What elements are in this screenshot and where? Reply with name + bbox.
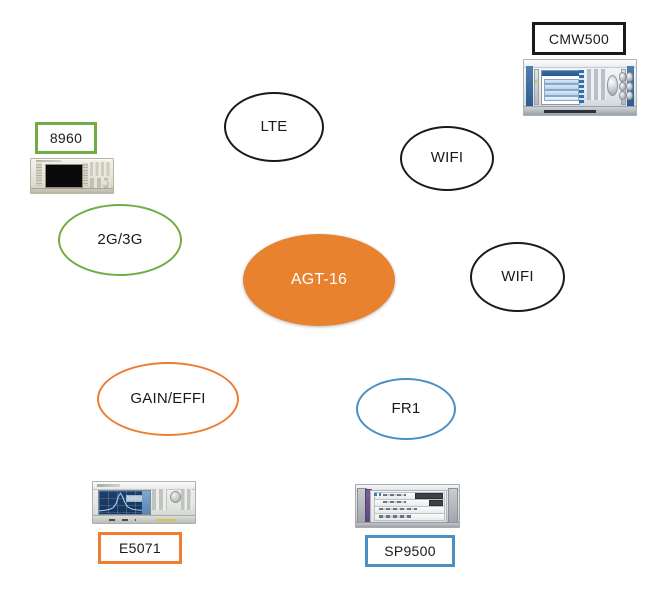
instrument-handle-left (534, 69, 539, 105)
instrument-connector-row (379, 515, 412, 518)
instrument-keypad (181, 489, 192, 510)
node-fr1-label: FR1 (392, 401, 421, 418)
instrument-top-panel (524, 60, 636, 68)
diagram-canvas: 8960 2G/3G LTE CMW500 (0, 0, 657, 591)
node-2g-3g-label: 2G/3G (97, 232, 142, 249)
node-2g-3g[interactable]: 2G/3G (58, 204, 182, 276)
instrument-photo-e5071 (92, 481, 196, 524)
node-wifi[interactable]: WIFI (400, 126, 494, 191)
display-menu-sidebar (142, 491, 150, 514)
label-box-e5071-text: E5071 (119, 540, 161, 556)
label-box-sp9500[interactable]: SP9500 (365, 535, 455, 567)
node-gain-effi[interactable]: GAIN/EFFI (97, 362, 239, 436)
instrument-connector-bank (618, 71, 633, 100)
node-agt-16-label: AGT-16 (291, 271, 347, 289)
instrument-base-panel (93, 515, 195, 523)
instrument-display (45, 164, 83, 188)
node-gain-effi-label: GAIN/EFFI (130, 391, 205, 408)
node-lte-label: LTE (261, 119, 288, 136)
instrument-module-cage (370, 490, 446, 524)
instrument-photo-cmw500 (523, 59, 637, 116)
label-box-cmw500[interactable]: CMW500 (532, 22, 626, 55)
instrument-brand-mark (36, 160, 61, 162)
instrument-base-panel (356, 522, 459, 527)
display-marker-readout (126, 495, 143, 502)
instrument-connector-row (383, 494, 405, 497)
instrument-keypad (587, 69, 606, 100)
node-bt[interactable]: WIFI (470, 242, 565, 312)
instrument-rotary-knob (170, 491, 181, 503)
display-title-bar (542, 71, 579, 76)
instrument-rf-connector (626, 91, 634, 100)
display-row (544, 96, 579, 102)
instrument-photo-sp9500 (355, 484, 460, 528)
instrument-keypad (90, 162, 110, 176)
instrument-brand-mark (97, 484, 119, 487)
instrument-connector-row (379, 508, 418, 511)
label-box-sp9500-text: SP9500 (384, 543, 436, 559)
instrument-rf-connector (626, 72, 634, 81)
instrument-side-bar-left (526, 66, 533, 107)
instrument-display (98, 490, 151, 515)
instrument-base-panel (31, 188, 113, 193)
node-fr1[interactable]: FR1 (356, 378, 456, 440)
instrument-module-panel (415, 493, 442, 499)
label-box-8960[interactable]: 8960 (35, 122, 97, 154)
instrument-status-leds (374, 493, 381, 496)
instrument-connector-row (383, 501, 405, 504)
instrument-rotary-knob (102, 180, 109, 187)
label-box-cmw500-text: CMW500 (549, 31, 609, 47)
node-agt-16[interactable]: AGT-16 (243, 234, 395, 326)
instrument-softkey-column-right (83, 163, 89, 185)
instrument-module-panel (429, 500, 443, 506)
instrument-vent-grille (544, 110, 596, 113)
instrument-test-ports (109, 519, 136, 522)
instrument-rack-rail-right (448, 488, 458, 526)
instrument-rf-connector (626, 82, 634, 91)
instrument-softkey-column-left (36, 163, 42, 185)
label-box-8960-text: 8960 (50, 130, 82, 146)
instrument-photo-8960 (30, 158, 114, 194)
node-bt-label: WIFI (501, 269, 533, 286)
label-box-e5071[interactable]: E5071 (98, 532, 182, 564)
instrument-power-led (535, 80, 537, 83)
instrument-softkey-column (579, 70, 584, 103)
instrument-label-strip (156, 519, 176, 522)
node-wifi-label: WIFI (431, 150, 463, 167)
instrument-key-bank (152, 489, 167, 510)
instrument-rotary-dial (607, 75, 618, 96)
node-lte[interactable]: LTE (224, 92, 324, 162)
instrument-display (541, 70, 580, 105)
